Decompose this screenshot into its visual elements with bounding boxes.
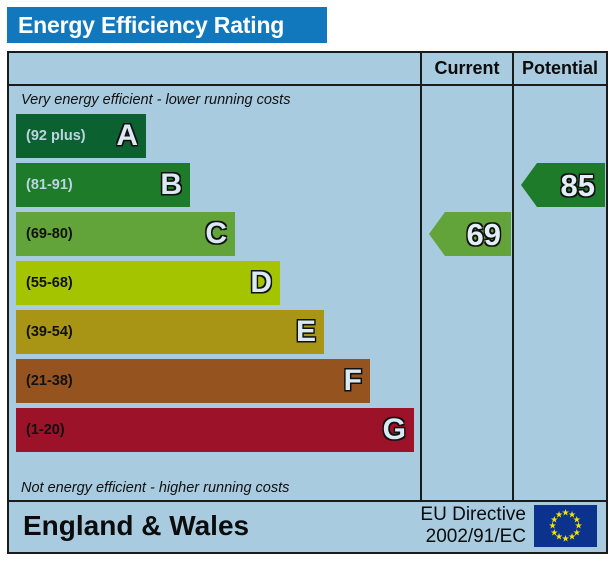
band-range-f: (21-38)	[26, 373, 73, 389]
band-letter-g: G	[383, 415, 406, 445]
band-a: (92 plus)A	[16, 114, 146, 158]
column-header-current: Current	[420, 53, 512, 84]
rating-table: Current Potential Very energy efficient …	[7, 51, 608, 554]
column-header-potential: Potential	[512, 53, 606, 84]
band-f: (21-38)F	[16, 359, 370, 403]
potential-rating-arrow: 85	[521, 163, 605, 207]
band-letter-c: C	[205, 219, 227, 249]
current-rating-arrow: 69	[429, 212, 511, 256]
column-divider-potential	[512, 86, 514, 500]
table-body: Very energy efficient - lower running co…	[9, 86, 606, 502]
band-g: (1-20)G	[16, 408, 414, 452]
caption-efficient: Very energy efficient - lower running co…	[21, 92, 290, 108]
band-letter-d: D	[250, 268, 272, 298]
band-range-g: (1-20)	[26, 422, 65, 438]
band-letter-a: A	[116, 121, 138, 151]
table-footer: England & Wales EU Directive 2002/91/EC …	[9, 500, 606, 552]
band-list: (92 plus)A(81-91)B(69-80)C(55-68)D(39-54…	[16, 114, 416, 474]
band-range-e: (39-54)	[26, 324, 73, 340]
region-label: England & Wales	[23, 510, 249, 542]
band-d: (55-68)D	[16, 261, 280, 305]
eu-flag-icon: ★★★★★★★★★★★★	[534, 505, 597, 547]
band-letter-e: E	[296, 317, 316, 347]
band-range-b: (81-91)	[26, 177, 73, 193]
energy-efficiency-rating-chart: Energy Efficiency Rating Current Potenti…	[0, 0, 615, 562]
band-letter-b: B	[160, 170, 182, 200]
band-range-d: (55-68)	[26, 275, 73, 291]
band-range-c: (69-80)	[26, 226, 73, 242]
caption-inefficient: Not energy efficient - higher running co…	[21, 480, 289, 496]
column-divider-current	[420, 86, 422, 500]
flag-star: ★	[555, 510, 563, 519]
band-e: (39-54)E	[16, 310, 324, 354]
eu-directive-line1: EU Directive	[420, 504, 526, 526]
band-c: (69-80)C	[16, 212, 235, 256]
eu-directive-line2: 2002/91/EC	[420, 526, 526, 548]
eu-directive-label: EU Directive 2002/91/EC	[420, 504, 526, 548]
page-title: Energy Efficiency Rating	[7, 7, 327, 43]
table-header-row: Current Potential	[9, 53, 606, 86]
band-b: (81-91)B	[16, 163, 190, 207]
band-letter-f: F	[344, 366, 362, 396]
band-range-a: (92 plus)	[26, 128, 86, 144]
